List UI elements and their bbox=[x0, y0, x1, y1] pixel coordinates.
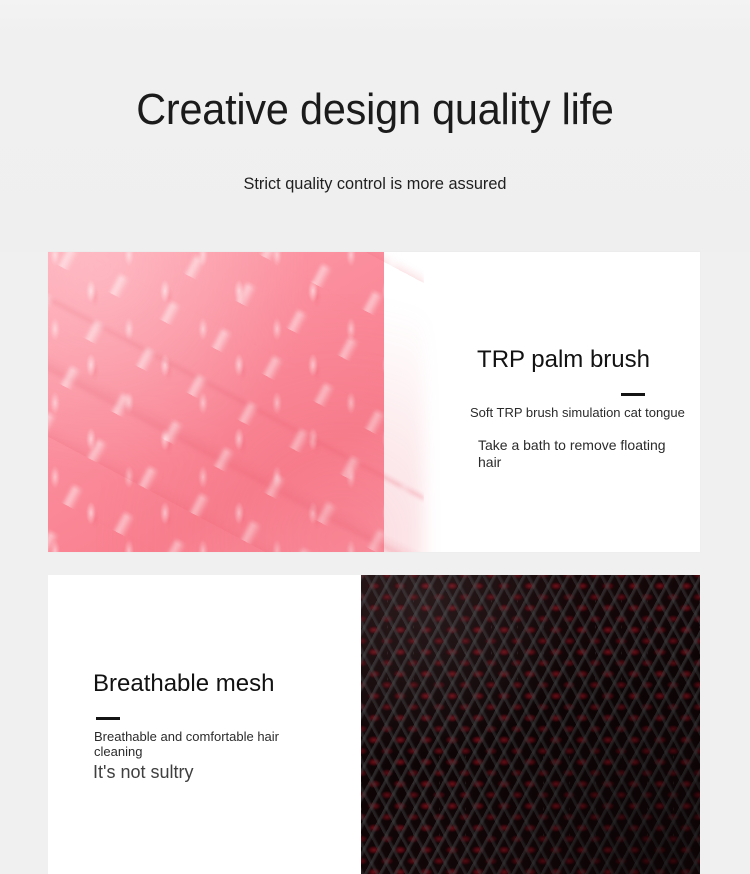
title-divider-rule bbox=[621, 393, 645, 396]
black-breathable-mesh-texture-image bbox=[361, 575, 700, 874]
feature-kicker: Take a bath to remove floating hair bbox=[478, 437, 684, 471]
title-divider-rule bbox=[96, 717, 120, 720]
pink-silicone-brush-texture-image bbox=[48, 252, 384, 552]
page-header: Creative design quality life Strict qual… bbox=[0, 0, 750, 252]
page-subtitle: Strict quality control is more assured bbox=[15, 172, 735, 196]
product-feature-page: Creative design quality life Strict qual… bbox=[0, 0, 750, 874]
feature-title: Breathable mesh bbox=[93, 669, 274, 699]
feature-card-trp-palm-brush: TRP palm brush Soft TRP brush simulation… bbox=[48, 252, 700, 552]
feature-copy-breathable-mesh: Breathable mesh Breathable and comfortab… bbox=[48, 575, 361, 874]
feature-card-breathable-mesh: Breathable mesh Breathable and comfortab… bbox=[48, 575, 700, 874]
feature-title: TRP palm brush bbox=[477, 345, 650, 375]
feature-copy-trp-palm-brush: TRP palm brush Soft TRP brush simulation… bbox=[384, 252, 700, 552]
page-title: Creative design quality life bbox=[23, 82, 728, 138]
feature-kicker: It's not sultry bbox=[93, 761, 313, 783]
feature-lede: Breathable and comfortable hair cleaning bbox=[94, 729, 306, 759]
feature-lede: Soft TRP brush simulation cat tongue bbox=[470, 405, 685, 420]
